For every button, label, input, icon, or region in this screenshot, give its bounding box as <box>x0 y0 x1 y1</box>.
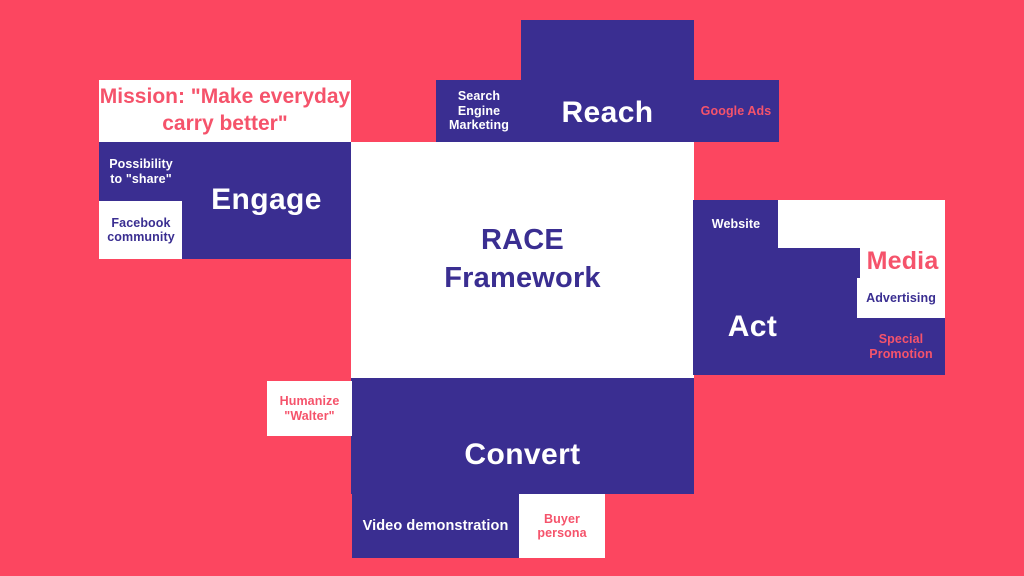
website-tag: Website <box>693 200 779 248</box>
engage-label: Engage <box>211 183 322 218</box>
google-ads-label: Google Ads <box>697 102 776 121</box>
engage-stage-block: Engage <box>182 142 351 259</box>
video-demonstration-tag: Video demonstration <box>352 494 519 558</box>
humanize-walter-tag: Humanize "Walter" <box>267 381 352 436</box>
convert-stage-block: Convert <box>351 378 694 494</box>
possibility-to-share-tag: Possibility to "share" <box>99 142 183 201</box>
convert-label: Convert <box>464 438 580 473</box>
reach-label: Reach <box>561 96 653 131</box>
race-title-line-2: Framework <box>444 262 601 294</box>
advertising-tag: Advertising <box>857 278 945 318</box>
search-engine-marketing-tag: Search Engine Marketing <box>436 80 522 142</box>
possibility-to-share-label: Possibility to "share" <box>99 155 183 188</box>
act-stage-block: Act <box>693 248 860 375</box>
humanize-walter-label: Humanize "Walter" <box>267 392 352 425</box>
video-demonstration-label: Video demonstration <box>359 516 513 537</box>
race-framework-title: RACE Framework <box>444 222 601 297</box>
special-promotion-tag: Special Promotion <box>857 318 945 375</box>
website-label: Website <box>708 215 764 234</box>
buyer-persona-label: Buyer persona <box>519 510 605 543</box>
google-ads-tag: Google Ads <box>693 80 779 142</box>
mission-statement: Mission: "Make everyday carry better" <box>99 84 351 138</box>
facebook-community-label: Facebook community <box>99 214 183 247</box>
race-framework-diagram: Reach Search Engine Marketing Google Ads… <box>0 0 1024 576</box>
act-label: Act <box>728 310 778 345</box>
mission-banner: Mission: "Make everyday carry better" <box>99 80 351 142</box>
advertising-label: Advertising <box>862 289 940 308</box>
race-title-line-1: RACE <box>481 224 564 256</box>
facebook-community-tag: Facebook community <box>99 201 183 259</box>
buyer-persona-tag: Buyer persona <box>519 494 605 558</box>
special-promotion-label: Special Promotion <box>857 330 945 363</box>
center-title-block: RACE Framework <box>351 142 694 378</box>
search-engine-marketing-label: Search Engine Marketing <box>436 87 522 135</box>
